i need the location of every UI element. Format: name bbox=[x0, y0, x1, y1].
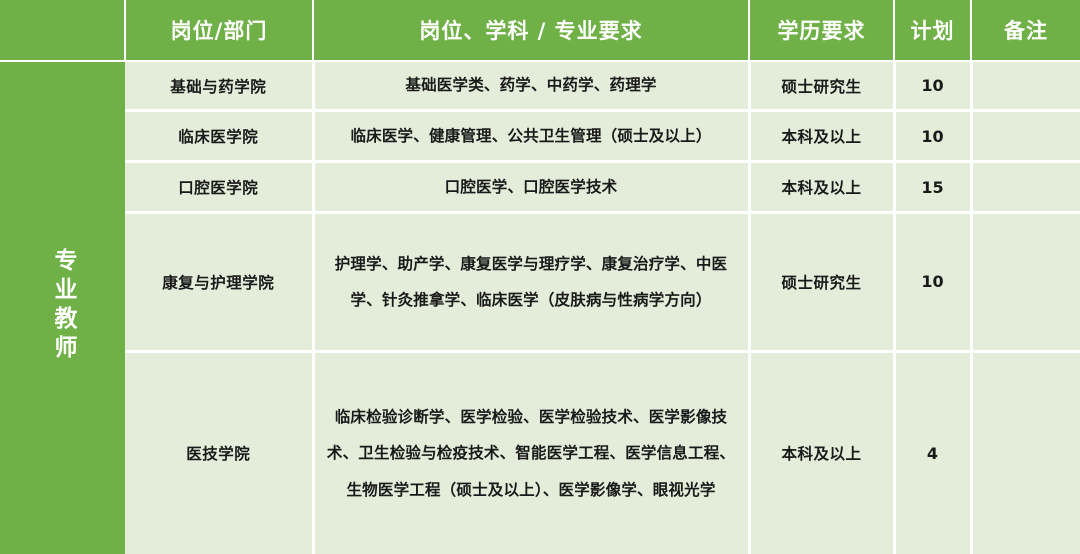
category-label: 专业教师 bbox=[51, 248, 74, 364]
table-row: 医技学院 临床检验诊断学、医学检验、医学检验技术、医学影像技 术、卫生检验与检疫… bbox=[0, 351, 1080, 554]
header-note: 备注 bbox=[971, 0, 1080, 61]
category-cell-professional-teacher: 专业教师 bbox=[0, 61, 125, 554]
table-header-row: 岗位/部门 岗位、学科 / 专业要求 学历要求 计划 备注 bbox=[0, 0, 1080, 61]
education-cell: 硕士研究生 bbox=[749, 213, 894, 352]
table-row: 专业教师 基础与药学院 基础医学类、药学、中药学、药理学 硕士研究生 10 bbox=[0, 61, 1080, 111]
major-line: 护理学、助产学、康复医学与理疗学、康复治疗学、中医 bbox=[325, 246, 738, 282]
header-department: 岗位/部门 bbox=[125, 0, 313, 61]
department-cell: 口腔医学院 bbox=[125, 162, 313, 213]
plan-cell: 15 bbox=[894, 162, 971, 213]
table-body: 专业教师 基础与药学院 基础医学类、药学、中药学、药理学 硕士研究生 10 临床… bbox=[0, 61, 1080, 554]
table-row: 康复与护理学院 护理学、助产学、康复医学与理疗学、康复治疗学、中医 学、针灸推拿… bbox=[0, 213, 1080, 352]
table-row: 口腔医学院 口腔医学、口腔医学技术 本科及以上 15 bbox=[0, 162, 1080, 213]
department-cell: 医技学院 bbox=[125, 351, 313, 554]
note-cell bbox=[971, 162, 1080, 213]
major-line: 临床医学、健康管理、公共卫生管理（硕士及以上） bbox=[325, 124, 738, 149]
header-plan: 计划 bbox=[894, 0, 971, 61]
header-education: 学历要求 bbox=[749, 0, 894, 61]
header-major: 岗位、学科 / 专业要求 bbox=[313, 0, 749, 61]
education-cell: 本科及以上 bbox=[749, 351, 894, 554]
note-cell bbox=[971, 61, 1080, 111]
major-line: 口腔医学、口腔医学技术 bbox=[325, 175, 738, 200]
major-line: 生物医学工程（硕士及以上）、医学影像学、眼视光学 bbox=[325, 472, 738, 508]
major-cell: 口腔医学、口腔医学技术 bbox=[313, 162, 749, 213]
department-cell: 康复与护理学院 bbox=[125, 213, 313, 352]
major-cell: 临床医学、健康管理、公共卫生管理（硕士及以上） bbox=[313, 111, 749, 162]
education-cell: 本科及以上 bbox=[749, 162, 894, 213]
education-cell: 本科及以上 bbox=[749, 111, 894, 162]
major-line: 基础医学类、药学、中药学、药理学 bbox=[325, 73, 738, 98]
major-cell: 基础医学类、药学、中药学、药理学 bbox=[313, 61, 749, 111]
note-cell bbox=[971, 111, 1080, 162]
plan-cell: 4 bbox=[894, 351, 971, 554]
note-cell bbox=[971, 351, 1080, 554]
plan-cell: 10 bbox=[894, 213, 971, 352]
education-cell: 硕士研究生 bbox=[749, 61, 894, 111]
major-line: 临床检验诊断学、医学检验、医学检验技术、医学影像技 bbox=[325, 399, 738, 435]
major-line: 学、针灸推拿学、临床医学（皮肤病与性病学方向） bbox=[325, 282, 738, 318]
department-cell: 基础与药学院 bbox=[125, 61, 313, 111]
major-cell: 临床检验诊断学、医学检验、医学检验技术、医学影像技 术、卫生检验与检疫技术、智能… bbox=[313, 351, 749, 554]
major-line: 术、卫生检验与检疫技术、智能医学工程、医学信息工程、 bbox=[325, 435, 738, 471]
plan-cell: 10 bbox=[894, 111, 971, 162]
major-cell: 护理学、助产学、康复医学与理疗学、康复治疗学、中医 学、针灸推拿学、临床医学（皮… bbox=[313, 213, 749, 352]
header-category bbox=[0, 0, 125, 61]
table-row: 临床医学院 临床医学、健康管理、公共卫生管理（硕士及以上） 本科及以上 10 bbox=[0, 111, 1080, 162]
plan-cell: 10 bbox=[894, 61, 971, 111]
note-cell bbox=[971, 213, 1080, 352]
recruitment-table: 岗位/部门 岗位、学科 / 专业要求 学历要求 计划 备注 专业教师 基础与药学… bbox=[0, 0, 1080, 554]
department-cell: 临床医学院 bbox=[125, 111, 313, 162]
